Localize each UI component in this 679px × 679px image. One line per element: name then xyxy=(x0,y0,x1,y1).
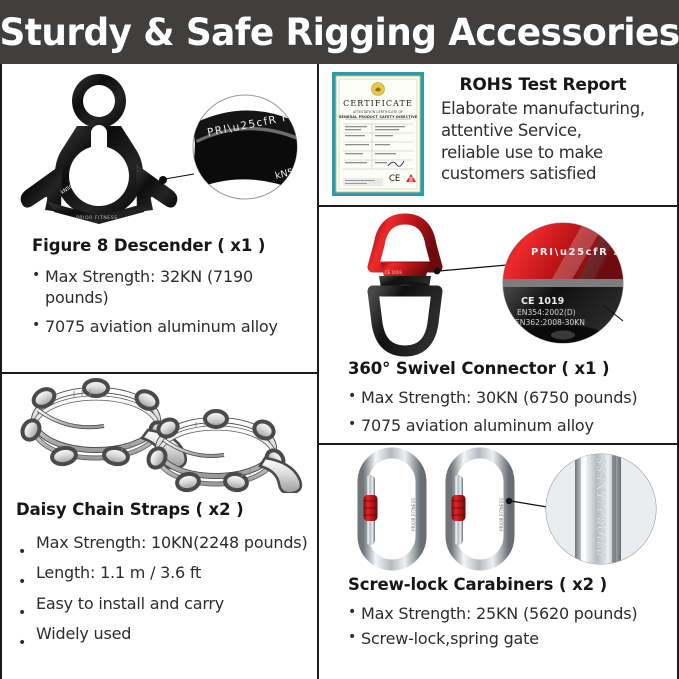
header-banner: Sturdy & Safe Rigging Accessories xyxy=(0,0,679,64)
swivel-connector-photo: CE 1019 xyxy=(331,209,675,357)
figure-8-descender-photo: kN50 PRIOR FITNESS PRI\u25cfR FITNE xyxy=(2,66,317,226)
svg-text:CE: CE xyxy=(389,174,400,184)
list-item: Max Strength: 10KN(2248 pounds) xyxy=(16,532,316,553)
svg-text:PRIOR FITNESS: PRIOR FITNESS xyxy=(76,215,118,221)
svg-text:GENERAL PRODUCT SAFETY DIRECTI: GENERAL PRODUCT SAFETY DIRECTIVE xyxy=(339,115,418,119)
swivel-title: 360° Swivel Connector ( x1 ) xyxy=(348,359,673,378)
figure-8-bullets: Max Strength: 32KN (7190 pounds) 7075 av… xyxy=(32,266,314,337)
swivel-text-block: 360° Swivel Connector ( x1 ) Max Strengt… xyxy=(348,359,673,437)
list-item: Length: 1.1 m / 3.6 ft xyxy=(16,562,316,583)
svg-text:CE 1019: CE 1019 xyxy=(521,296,564,307)
panel-rohs-test-report: CERTIFICATE ATTESTATION CERTIFICATE OF G… xyxy=(319,64,677,205)
carabiner-title: Screw-lock Carabiners ( x2 ) xyxy=(348,575,673,594)
panel-grid: kN50 PRIOR FITNESS PRI\u25cfR FITNE xyxy=(0,64,679,679)
rohs-line: attentive Service, xyxy=(441,120,645,142)
carabiner-bullets: Max Strength: 25KN (5620 pounds) Screw-l… xyxy=(348,603,673,650)
list-item: Widely used xyxy=(16,623,316,644)
figure-8-text-block: Figure 8 Descender ( x1 ) Max Strength: … xyxy=(32,236,314,337)
list-item: Easy to install and carry xyxy=(16,593,316,614)
svg-text:PRI\u25cfR FITNESS: PRI\u25cfR FITNESS xyxy=(531,247,671,258)
svg-text:CE 1019: CE 1019 xyxy=(385,270,402,275)
rohs-certificate-image: CERTIFICATE ATTESTATION CERTIFICATE OF G… xyxy=(332,72,424,196)
daisy-chain-straps-photo xyxy=(4,378,314,493)
infographic-root: Sturdy & Safe Rigging Accessories xyxy=(0,0,679,679)
swivel-bullets: Max Strength: 30KN (6750 pounds) 7075 av… xyxy=(348,387,673,437)
list-item: 7075 aviation aluminum alloy xyxy=(32,316,314,337)
figure-8-title: Figure 8 Descender ( x1 ) xyxy=(32,236,314,255)
list-item: Max Strength: 30KN (6750 pounds) xyxy=(348,387,673,408)
panel-daisy-chain-straps: Daisy Chain Straps ( x2 ) Max Strength: … xyxy=(2,374,317,679)
daisy-chain-title: Daisy Chain Straps ( x2 ) xyxy=(16,500,316,519)
rohs-text-block: ROHS Test Report Elaborate manufacturing… xyxy=(441,72,645,196)
page-title: Sturdy & Safe Rigging Accessories xyxy=(0,14,679,51)
daisy-chain-text-block: Daisy Chain Straps ( x2 ) Max Strength: … xyxy=(16,500,316,644)
svg-text:EN362:2008-30KN: EN362:2008-30KN xyxy=(515,318,585,327)
list-item: Max Strength: 32KN (7190 pounds) xyxy=(32,266,314,309)
svg-text:PRIOR FITNESS: PRIOR FITNESS xyxy=(499,498,505,531)
list-item: Max Strength: 25KN (5620 pounds) xyxy=(348,603,673,624)
rohs-line: Elaborate manufacturing, xyxy=(441,98,645,120)
svg-text:CERTIFICATE: CERTIFICATE xyxy=(343,99,413,108)
rohs-heading: ROHS Test Report xyxy=(441,75,645,95)
daisy-chain-bullets: Max Strength: 10KN(2248 pounds) Length: … xyxy=(16,532,316,644)
list-item: Screw-lock,spring gate xyxy=(348,628,673,649)
rohs-line: customers satisfied xyxy=(441,163,645,185)
panel-screw-lock-carabiners: PRIOR FITNESS PRIOR FITNESS xyxy=(319,445,677,679)
svg-text:PRIOR FITNESS: PRIOR FITNESS xyxy=(595,457,608,558)
list-item: 7075 aviation aluminum alloy xyxy=(348,415,673,436)
svg-text:PRIOR FITNESS: PRIOR FITNESS xyxy=(411,498,417,531)
svg-text:ATTESTATION CERTIFICATE OF: ATTESTATION CERTIFICATE OF xyxy=(353,110,403,114)
svg-text:EN354:2002(D): EN354:2002(D) xyxy=(517,308,576,317)
rohs-line: reliable use to make xyxy=(441,142,645,164)
panel-swivel-connector: CE 1019 xyxy=(319,207,677,443)
carabiner-text-block: Screw-lock Carabiners ( x2 ) Max Strengt… xyxy=(348,575,673,650)
screw-lock-carabiners-photo: PRIOR FITNESS PRIOR FITNESS xyxy=(329,445,675,573)
panel-figure-8-descender: kN50 PRIOR FITNESS PRI\u25cfR FITNE xyxy=(2,64,317,372)
